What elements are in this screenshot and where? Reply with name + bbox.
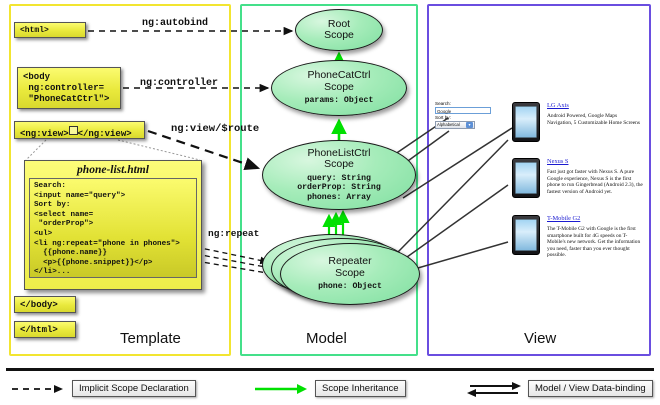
phone-name-link[interactable]: LG Axis (547, 102, 643, 110)
column-label-template: Template (120, 330, 181, 347)
scope-phonecatctrl-label: PhoneCatCtrl Scope (307, 70, 370, 93)
scope-root: Root Scope (295, 9, 383, 51)
phone-name-link[interactable]: Nexus S (547, 158, 643, 166)
phone-thumbnail-icon (512, 215, 540, 255)
ng-view-placeholder-icon (69, 126, 78, 135)
edge-label-ng-controller: ng:controller (140, 78, 218, 89)
phone-snippet: The T-Mobile G2 with Google is the first… (547, 226, 643, 259)
sort-select-value: Alphabetical (437, 121, 460, 128)
phone-list-template-code: Search: <input name="query"> Sort by: <s… (29, 178, 197, 278)
phone-list-item[interactable]: LG Axis Android Powered, Google Maps Nav… (512, 102, 643, 142)
code-box-body-close: </body> (14, 296, 76, 313)
chevron-down-icon: ▾ (466, 122, 473, 128)
column-label-model: Model (306, 330, 347, 347)
green-arrow-icon (253, 381, 309, 397)
column-label-view: View (524, 330, 556, 347)
code-box-body-open: <body ng:controller= "PhoneCatCtrl"> (17, 67, 121, 109)
phone-thumbnail-icon (512, 158, 540, 198)
legend-label-scope-inheritance: Scope Inheritance (315, 380, 406, 397)
phone-list-template-panel: phone-list.html Search: <input name="que… (24, 160, 202, 290)
scope-repeater-props: phone: Object (318, 282, 382, 292)
scope-repeater: Repeater Scope phone: Object (280, 243, 420, 305)
search-form: Search: Google Sort by: Alphabetical ▾ (435, 101, 497, 129)
search-input[interactable]: Google (435, 107, 491, 114)
scope-phonecatctrl-props: params: Object (305, 96, 374, 106)
phone-name-link[interactable]: T-Mobile G2 (547, 215, 643, 223)
code-box-html-close: </html> (14, 321, 76, 338)
phone-list-item[interactable]: T-Mobile G2 The T-Mobile G2 with Google … (512, 215, 643, 259)
ng-view-open-tag: <ng:view> (20, 129, 69, 139)
legend-label-model-view-data-binding: Model / View Data-binding (528, 380, 653, 397)
scope-root-label: Root Scope (324, 19, 354, 42)
legend-divider (6, 368, 654, 371)
phone-thumbnail-icon (512, 102, 540, 142)
scope-phonecatctrl: PhoneCatCtrl Scope params: Object (271, 60, 407, 116)
edge-label-ng-view-route: ng:view/$route (171, 123, 259, 135)
legend-label-implicit-scope-declaration: Implicit Scope Declaration (72, 380, 196, 397)
code-box-ng-view: <ng:view></ng:view> (14, 121, 145, 139)
phone-list-item[interactable]: Nexus S Fast just got faster with Nexus … (512, 158, 643, 198)
edge-label-ng-autobind: ng:autobind (142, 18, 208, 29)
scope-phonelistctrl-label: PhoneListCtrl Scope (307, 148, 370, 171)
sort-select[interactable]: Alphabetical ▾ (435, 121, 475, 129)
ng-view-close-tag: </ng:view> (78, 129, 132, 139)
diagram-canvas: <html> <body ng:controller= "PhoneCatCtr… (0, 0, 660, 405)
scope-phonelistctrl-props: query: String orderProp: String phones: … (297, 174, 381, 203)
legend-item-scope-inheritance: Scope Inheritance (253, 380, 406, 397)
legend-item-model-view-data-binding: Model / View Data-binding (466, 380, 653, 397)
phone-snippet: Android Powered, Google Maps Navigation,… (547, 113, 643, 126)
scope-phonelistctrl: PhoneListCtrl Scope query: String orderP… (262, 140, 416, 210)
phone-list-template-title: phone-list.html (25, 161, 201, 178)
code-box-html-open: <html> (14, 22, 86, 38)
scope-repeater-label: Repeater Scope (328, 256, 371, 279)
phone-snippet: Fast just got faster with Nexus S. A pur… (547, 169, 643, 195)
legend-item-implicit-scope-declaration: Implicit Scope Declaration (10, 380, 196, 397)
dashed-arrow-icon (10, 381, 66, 397)
edge-label-ng-repeat: ng:repeat (208, 228, 259, 239)
double-arrow-icon (466, 381, 522, 397)
